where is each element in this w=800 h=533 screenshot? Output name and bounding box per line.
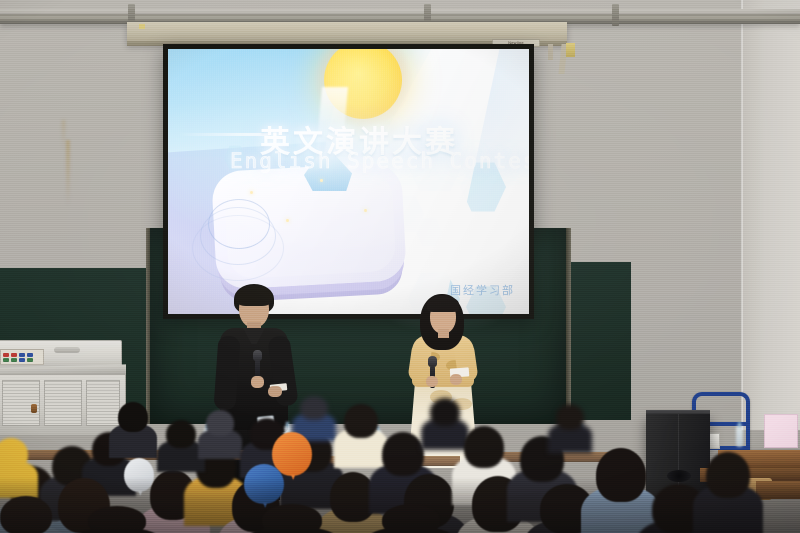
audience-person-head	[556, 404, 584, 430]
male-host-hand-right	[251, 376, 264, 388]
slide-projector-glow	[168, 49, 529, 314]
podium-handle[interactable]	[54, 347, 80, 353]
projection-screen-frame: 英文演讲大赛 English Speech Contest 国经学习部	[163, 44, 534, 319]
podium-button-row	[3, 358, 41, 362]
male-host-fringe	[236, 286, 272, 306]
wall-stain-secondary	[62, 120, 65, 150]
audience-person-head	[344, 404, 378, 438]
wall-seam	[741, 0, 743, 430]
podium-button-row	[3, 353, 41, 357]
audience-person-head	[430, 398, 460, 426]
podium-button[interactable]	[27, 358, 33, 362]
housing-clip-right	[566, 43, 575, 57]
podium-button[interactable]	[3, 353, 9, 357]
female-host-fringe	[427, 296, 459, 312]
podium-button[interactable]	[11, 353, 17, 357]
podium-button[interactable]	[27, 353, 33, 357]
audience-person-head	[464, 426, 504, 468]
wall-right-panel	[742, 0, 800, 430]
podium-button[interactable]	[3, 358, 9, 362]
podium-button[interactable]	[11, 358, 17, 362]
audience-shadow	[0, 477, 800, 533]
wall-poster	[764, 414, 798, 448]
podium-control-panel[interactable]	[0, 349, 44, 365]
water-bottle	[736, 426, 743, 447]
audience-person-head	[382, 432, 424, 476]
female-host-hand-right	[450, 374, 462, 385]
screenshot-root: Newline	[0, 0, 800, 533]
audience-person-head	[206, 410, 234, 436]
female-host-hand-left	[426, 376, 438, 387]
housing-mount-small	[548, 44, 553, 60]
audience-person-head	[0, 438, 28, 470]
podium-button[interactable]	[19, 358, 25, 362]
projection-screen: 英文演讲大赛 English Speech Contest 国经学习部	[168, 49, 529, 314]
female-host-neck	[438, 329, 449, 338]
audience-person-head	[118, 402, 148, 432]
housing-clip-left	[139, 24, 145, 29]
wall-stain	[66, 140, 70, 206]
podium-button[interactable]	[19, 353, 25, 357]
audience	[0, 392, 800, 533]
audience-person-head	[166, 420, 196, 448]
rail-bracket	[612, 4, 619, 26]
audience-person-head	[300, 396, 328, 420]
